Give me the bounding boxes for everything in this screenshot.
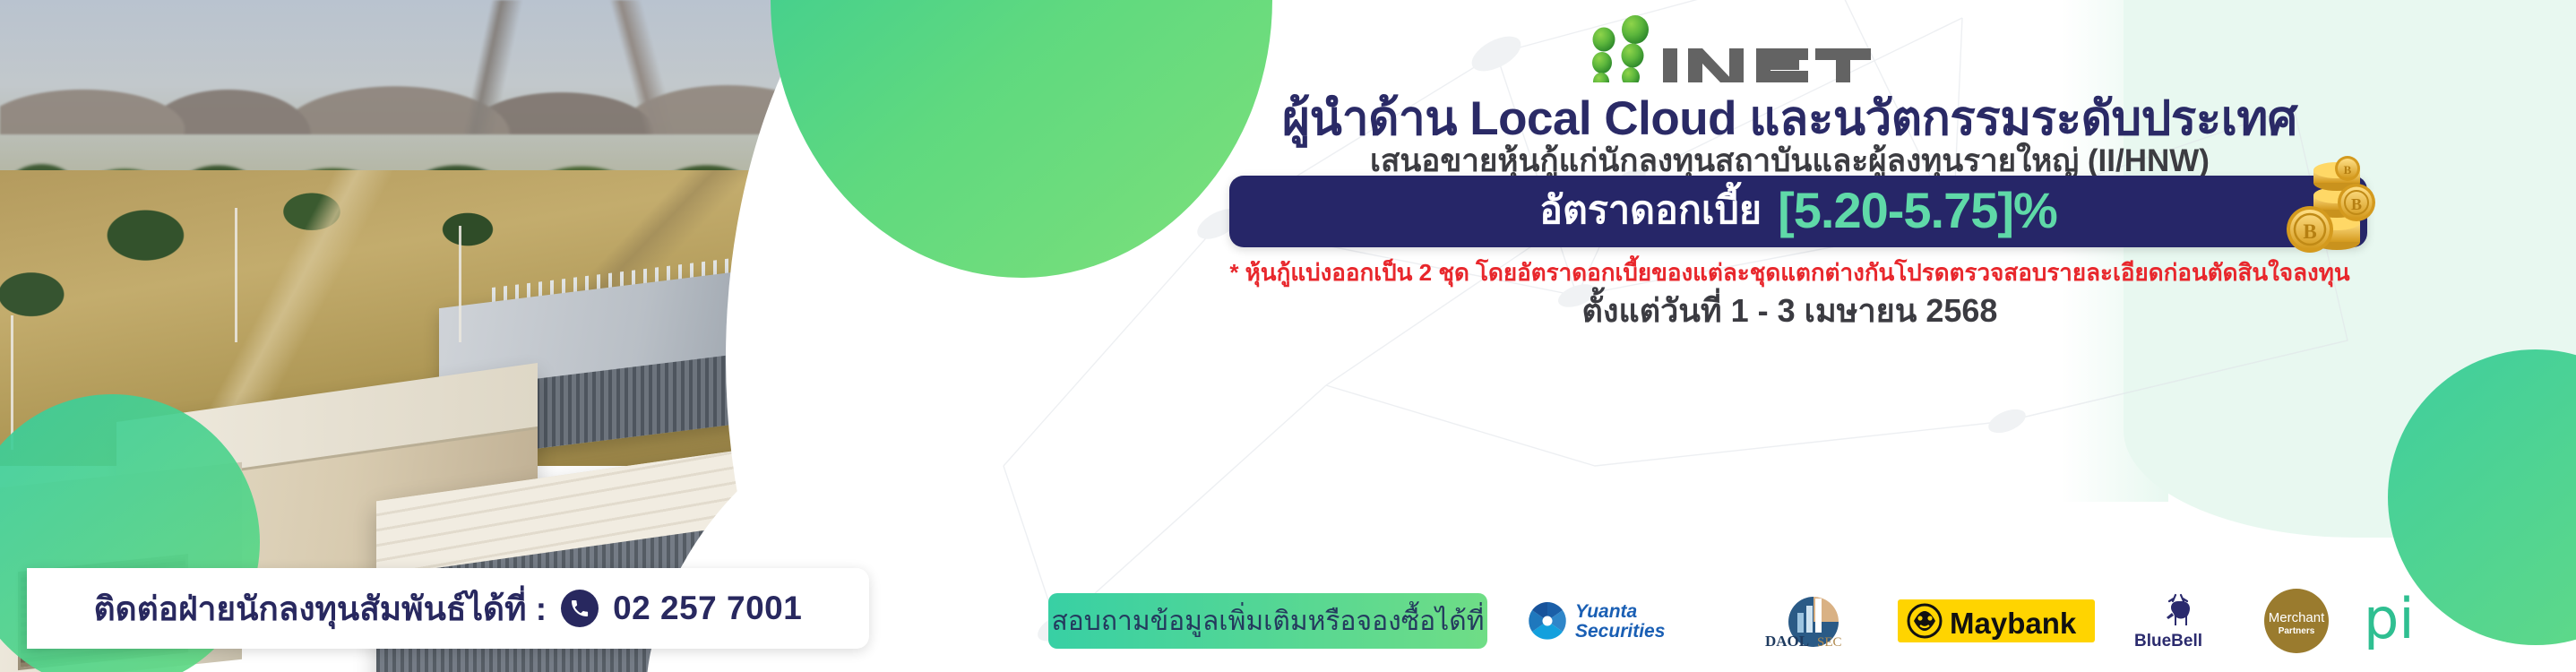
contact-label: ติดต่อฝ่ายนักลงทุนสัมพันธ์ได้ที่ : bbox=[94, 582, 547, 635]
svg-text:DAOL: DAOL bbox=[1765, 633, 1809, 650]
content-column: ผู้นำด้าน Local Cloud และนวัตกรรมระดับปร… bbox=[1004, 0, 2576, 672]
interest-rate-panel: อัตราดอกเบี้ย [5.20-5.75]% bbox=[1229, 176, 2367, 247]
phone-icon bbox=[561, 590, 599, 627]
svg-text:pi: pi bbox=[2364, 591, 2415, 650]
interest-rate-value: [5.20-5.75]% bbox=[1778, 181, 2057, 239]
bottom-action-row: สอบถามข้อมูลเพิ่มเติมหรือจองซื้อได้ที่ bbox=[1048, 590, 2572, 652]
svg-text:BlueBell: BlueBell bbox=[2134, 632, 2202, 650]
investor-relations-contact-card[interactable]: ติดต่อฝ่ายนักลงทุนสัมพันธ์ได้ที่ : 02 25… bbox=[27, 568, 869, 649]
contact-phone-number: 02 257 7001 bbox=[613, 590, 802, 627]
svg-text:Securities: Securities bbox=[1575, 621, 1665, 642]
svg-text:Merchant: Merchant bbox=[2269, 610, 2325, 625]
broker-logo-daolsec[interactable]: DAOL SEC bbox=[1760, 590, 1867, 652]
utility-pole bbox=[11, 315, 13, 450]
interest-rate-label: อัตราดอกเบี้ย bbox=[1539, 179, 1762, 240]
inet-bond-offering-banner: ผู้นำด้าน Local Cloud และนวัตกรรมระดับปร… bbox=[0, 0, 2576, 672]
inquire-or-subscribe-button[interactable]: สอบถามข้อมูลเพิ่มเติมหรือจองซื้อได้ที่ bbox=[1048, 593, 1487, 649]
broker-logo-yuanta[interactable]: Yuanta Securities bbox=[1523, 590, 1729, 652]
inet-logo bbox=[1577, 13, 1882, 82]
offering-date: ตั้งแต่วันที่ 1 - 3 เมษายน 2568 bbox=[1004, 285, 2576, 336]
svg-text:Partners: Partners bbox=[2279, 626, 2315, 636]
gold-coins-icon: B B B bbox=[2270, 156, 2383, 267]
utility-pole bbox=[459, 226, 461, 342]
broker-logo-strip: Yuanta Securities DAOL bbox=[1512, 590, 2572, 652]
utility-pole bbox=[235, 208, 237, 342]
svg-text:B: B bbox=[2351, 195, 2362, 213]
svg-text:Maybank: Maybank bbox=[1950, 607, 2077, 640]
broker-logo-maybank[interactable]: Maybank bbox=[1898, 590, 2095, 652]
interest-rate-box: อัตราดอกเบี้ย [5.20-5.75]% bbox=[1229, 176, 2367, 247]
broker-logo-bluebell[interactable]: BlueBell bbox=[2125, 590, 2231, 652]
svg-text:SEC: SEC bbox=[1817, 635, 1842, 650]
broker-logo-merchant-partners[interactable]: Merchant Partners bbox=[2262, 590, 2331, 652]
svg-text:B: B bbox=[2344, 163, 2352, 177]
broker-logo-pi[interactable]: pi bbox=[2362, 590, 2444, 652]
svg-text:Yuanta: Yuanta bbox=[1575, 601, 1638, 622]
svg-text:B: B bbox=[2303, 220, 2316, 243]
